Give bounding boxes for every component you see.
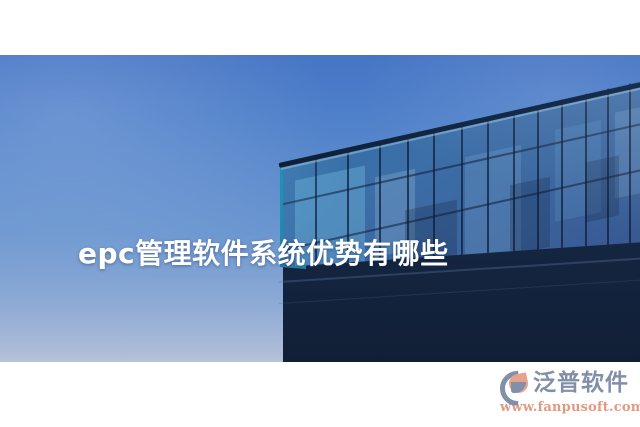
glass-dark-reflection xyxy=(510,177,550,256)
glass-dark-reflection xyxy=(585,155,619,222)
hero-headline: epc管理软件系统优势有哪些 xyxy=(78,238,449,270)
glass-reflection xyxy=(615,101,640,198)
watermark-url: www.fanpusoft.com xyxy=(500,400,636,415)
glass-reflection xyxy=(555,120,601,222)
watermark-brand-name: 泛普软件 xyxy=(533,370,629,397)
fanpu-logo-mark-icon xyxy=(500,370,530,397)
page-root: epc管理软件系统优势有哪些 泛普软件 www.fanpusoft.com xyxy=(0,0,640,427)
glass-building-graphic xyxy=(255,55,640,362)
hero-banner-image: epc管理软件系统优势有哪些 xyxy=(0,55,640,362)
fanpu-software-watermark: 泛普软件 www.fanpusoft.com xyxy=(500,368,636,418)
watermark-brand-row: 泛普软件 xyxy=(500,368,636,398)
glass-reflection xyxy=(465,145,521,267)
